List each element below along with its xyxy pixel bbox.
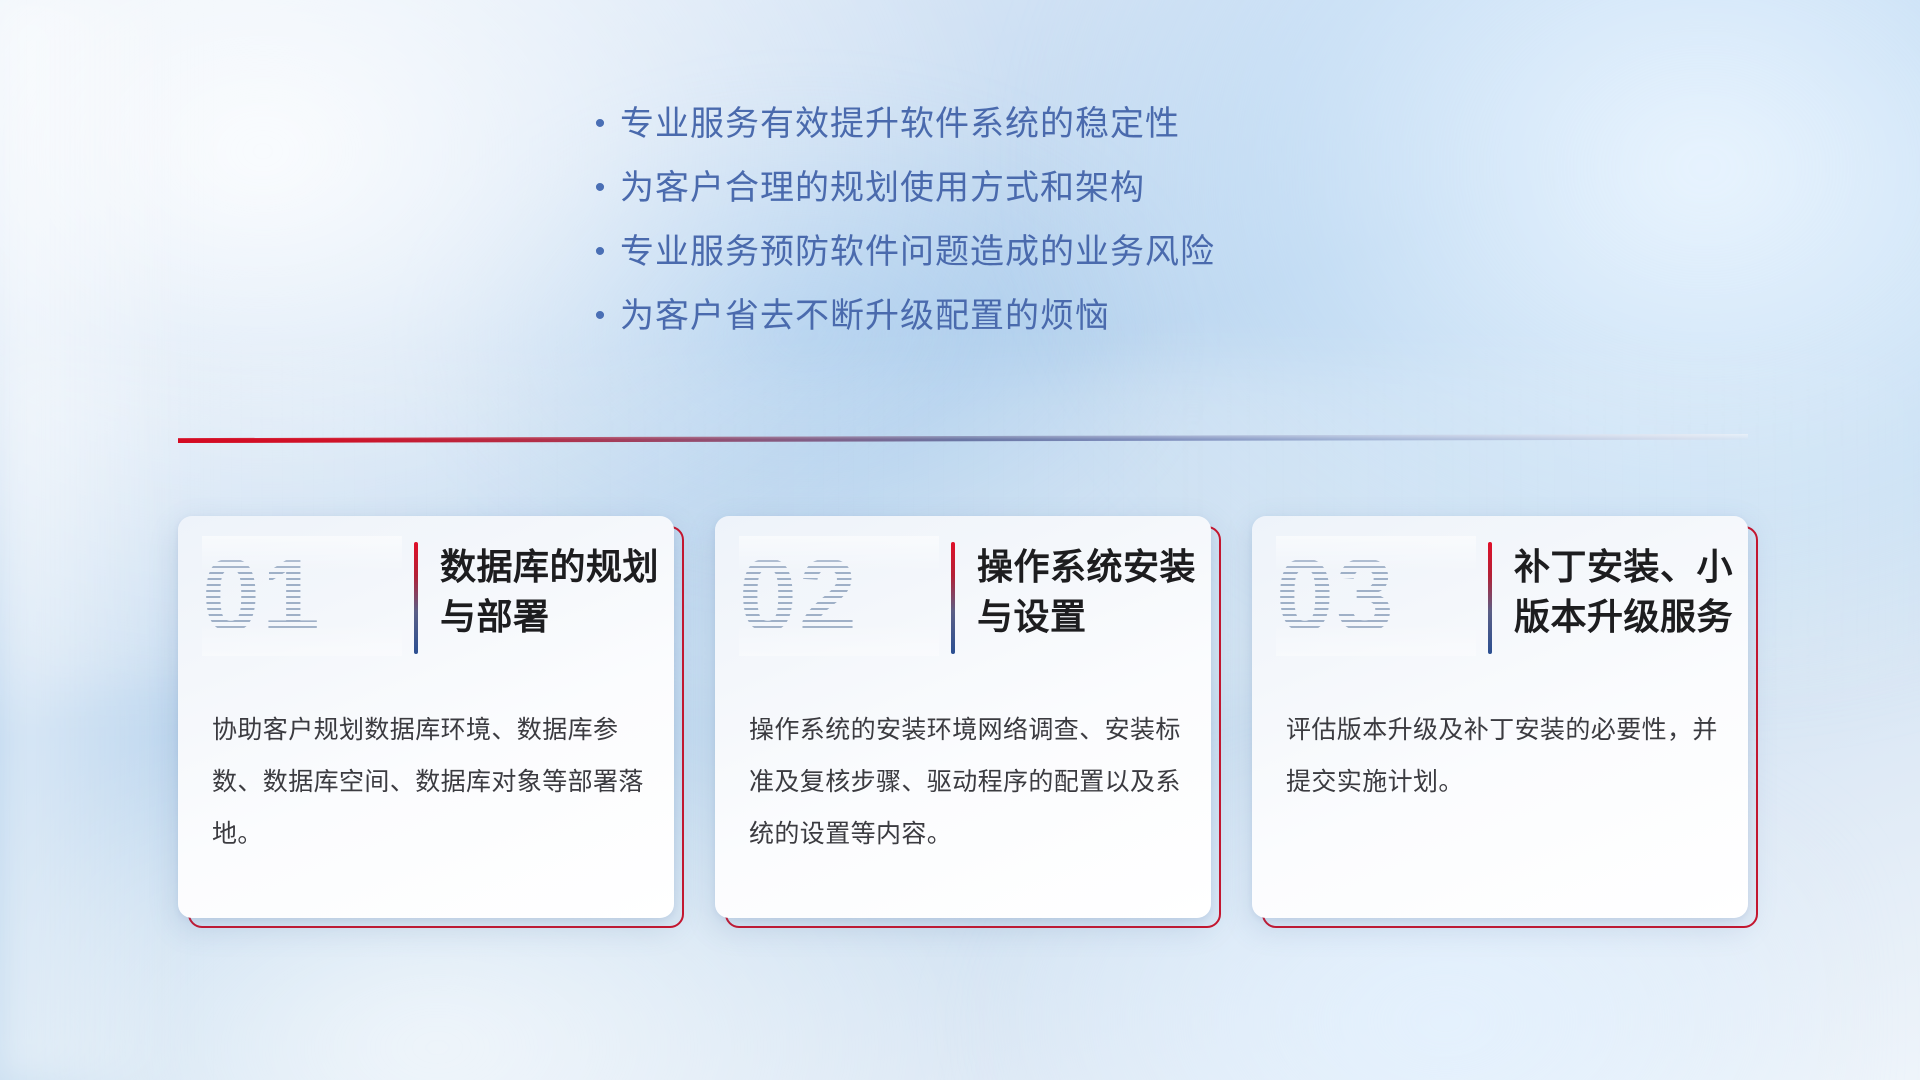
service-card[interactable]: 03 补丁安装、小版本升级服务 评估版本升级及补丁安装的必要性，并提交实施计划。: [1252, 516, 1748, 918]
card-title-accent-bar: [414, 542, 418, 654]
service-cards: 01 数据库的规划与部署 协助客户规划数据库环境、数据库参数、数据库空间、数据库…: [178, 516, 1748, 918]
list-item: • 专业服务有效提升软件系统的稳定性: [580, 96, 1340, 160]
bullet-point-icon: •: [580, 173, 620, 203]
section-divider: [178, 428, 1748, 452]
card-title: 操作系统安装与设置: [977, 542, 1201, 654]
divider-sheen: [178, 434, 1748, 443]
card-title: 数据库的规划与部署: [440, 542, 664, 654]
card-title-block: 补丁安装、小版本升级服务: [1488, 542, 1738, 654]
card-surface: 02 操作系统安装与设置 操作系统的安装环境网络调查、安装标准及复核步骤、驱动程…: [715, 516, 1211, 918]
benefits-list: • 专业服务有效提升软件系统的稳定性 • 为客户合理的规划使用方式和架构 • 专…: [0, 96, 1920, 352]
service-card[interactable]: 02 操作系统安装与设置 操作系统的安装环境网络调查、安装标准及复核步骤、驱动程…: [715, 516, 1211, 918]
card-surface: 01 数据库的规划与部署 协助客户规划数据库环境、数据库参数、数据库空间、数据库…: [178, 516, 674, 918]
card-title: 补丁安装、小版本升级服务: [1514, 542, 1738, 654]
service-card[interactable]: 01 数据库的规划与部署 协助客户规划数据库环境、数据库参数、数据库空间、数据库…: [178, 516, 674, 918]
bullet-point-icon: •: [580, 237, 620, 267]
list-item-label: 为客户省去不断升级配置的烦恼: [620, 288, 1110, 337]
list-item-label: 为客户合理的规划使用方式和架构: [620, 160, 1145, 209]
card-title-block: 数据库的规划与部署: [414, 542, 664, 654]
card-description: 评估版本升级及补丁安装的必要性，并提交实施计划。: [1286, 704, 1718, 808]
card-number-watermark: 02: [739, 536, 939, 656]
list-item: • 为客户省去不断升级配置的烦恼: [580, 288, 1340, 352]
card-header: 02 操作系统安装与设置: [715, 516, 1211, 684]
bullet-point-icon: •: [580, 301, 620, 331]
card-title-block: 操作系统安装与设置: [951, 542, 1201, 654]
list-item-label: 专业服务有效提升软件系统的稳定性: [620, 96, 1180, 145]
card-header: 01 数据库的规划与部署: [178, 516, 674, 684]
card-title-accent-bar: [1488, 542, 1492, 654]
card-description: 协助客户规划数据库环境、数据库参数、数据库空间、数据库对象等部署落地。: [212, 704, 644, 860]
card-surface: 03 补丁安装、小版本升级服务 评估版本升级及补丁安装的必要性，并提交实施计划。: [1252, 516, 1748, 918]
card-header: 03 补丁安装、小版本升级服务: [1252, 516, 1748, 684]
card-title-accent-bar: [951, 542, 955, 654]
list-item-label: 专业服务预防软件问题造成的业务风险: [620, 224, 1215, 273]
list-item: • 专业服务预防软件问题造成的业务风险: [580, 224, 1340, 288]
card-description: 操作系统的安装环境网络调查、安装标准及复核步骤、驱动程序的配置以及系统的设置等内…: [749, 704, 1181, 860]
bullet-point-icon: •: [580, 109, 620, 139]
card-number-watermark: 03: [1276, 536, 1476, 656]
list-item: • 为客户合理的规划使用方式和架构: [580, 160, 1340, 224]
card-number-watermark: 01: [202, 536, 402, 656]
